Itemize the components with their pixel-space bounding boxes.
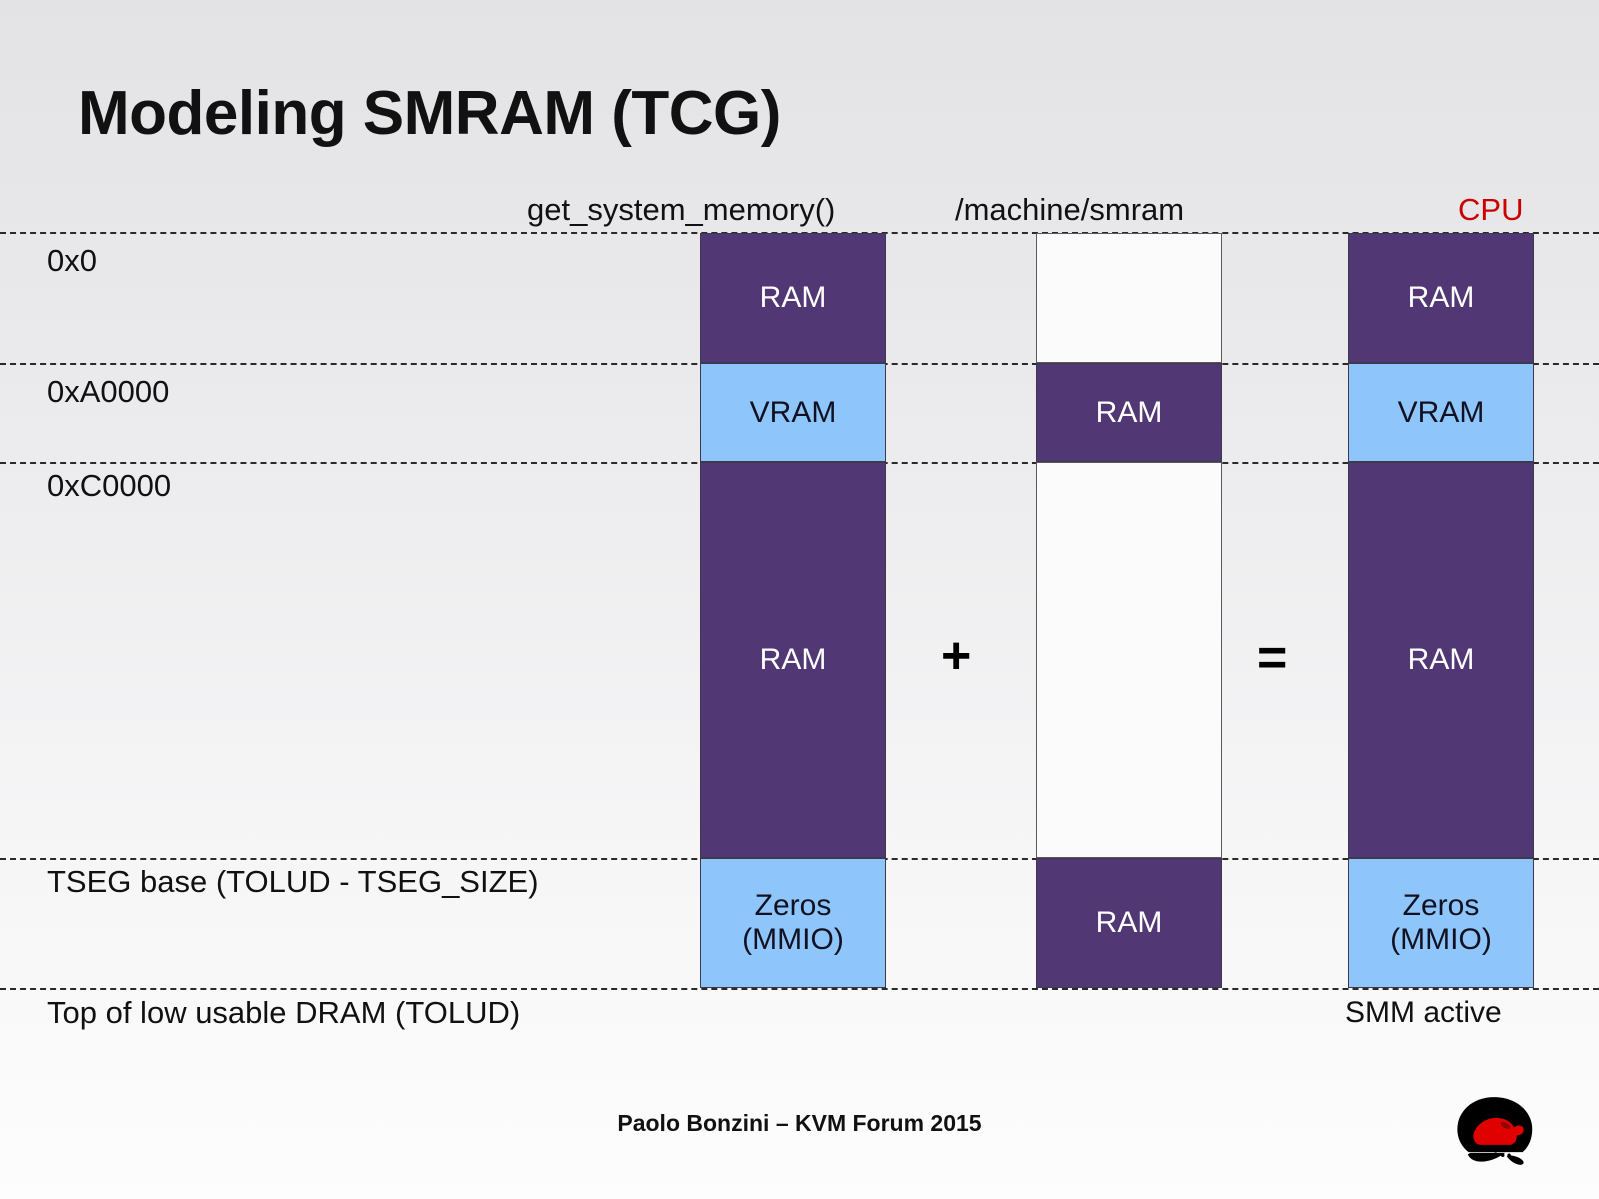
memory-block-label-line1: Zeros xyxy=(755,889,832,922)
memory-block-label: RAM xyxy=(1096,396,1163,430)
memory-block-label: VRAM xyxy=(750,396,837,430)
red-hat-shadowman-logo xyxy=(1446,1086,1542,1172)
memory-block-label: RAM xyxy=(760,281,827,315)
memory-block-label: VRAM xyxy=(1398,396,1485,430)
address-label-0xc0000: 0xC0000 xyxy=(47,468,171,504)
memory-block-ram-vga: RAM xyxy=(1036,363,1222,462)
address-label-0xa0000: 0xA0000 xyxy=(47,374,169,410)
memory-block-ram-low: RAM xyxy=(700,233,886,363)
memory-block-empty-main xyxy=(1036,462,1222,858)
memory-block-vram: VRAM xyxy=(700,363,886,462)
gridline-tolud xyxy=(0,988,1599,990)
memory-block-ram-main: RAM xyxy=(1348,462,1534,858)
memory-block-label: RAM xyxy=(1408,643,1475,677)
memory-block-label-line2: (MMIO) xyxy=(742,923,844,956)
operator-equals: = xyxy=(1257,632,1287,684)
address-label-0x0: 0x0 xyxy=(47,243,97,279)
slide-canvas: Modeling SMRAM (TCG) get_system_memory()… xyxy=(0,0,1599,1199)
page-title: Modeling SMRAM (TCG) xyxy=(78,78,781,149)
memory-block-ram-main: RAM xyxy=(700,462,886,858)
memory-block-label-line1: Zeros xyxy=(1403,889,1480,922)
memory-block-empty-low xyxy=(1036,233,1222,363)
address-label-tolud: Top of low usable DRAM (TOLUD) xyxy=(47,995,520,1031)
footer-text: Paolo Bonzini – KVM Forum 2015 xyxy=(0,1110,1599,1137)
memory-block-zeros-mmio: Zeros (MMIO) xyxy=(1348,858,1534,988)
operator-plus: + xyxy=(941,630,971,682)
memory-block-label: Zeros (MMIO) xyxy=(742,889,844,956)
column-header-cpu: CPU xyxy=(1458,192,1523,228)
column-header-smram: /machine/smram xyxy=(955,192,1184,228)
memory-block-label: Zeros (MMIO) xyxy=(1390,889,1492,956)
memory-block-ram-low: RAM xyxy=(1348,233,1534,363)
memory-block-zeros-mmio: Zeros (MMIO) xyxy=(700,858,886,988)
memory-block-vram: VRAM xyxy=(1348,363,1534,462)
column-header-system-memory: get_system_memory() xyxy=(527,192,835,228)
smm-active-label: SMM active xyxy=(1345,996,1502,1030)
memory-block-ram-tseg: RAM xyxy=(1036,858,1222,988)
memory-block-label: RAM xyxy=(1408,281,1475,315)
address-label-tseg-base: TSEG base (TOLUD - TSEG_SIZE) xyxy=(47,864,539,900)
memory-block-label: RAM xyxy=(760,643,827,677)
memory-block-label: RAM xyxy=(1096,906,1163,940)
memory-block-label-line2: (MMIO) xyxy=(1390,923,1492,956)
